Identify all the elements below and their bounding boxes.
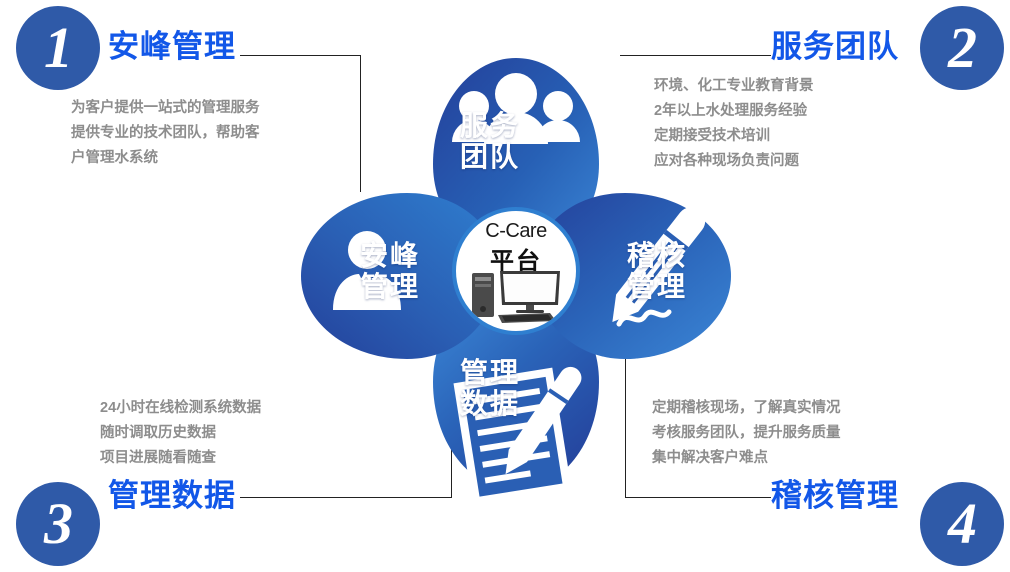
desktop-computer-icon [470,269,564,325]
section-heading-anfeng-management: 安峰管理 [108,21,236,66]
infographic-canvas: 1 2 3 4 安峰管理 服务团队 管理数据 稽核管理 为客户提供一站式的管理服… [0,0,1010,572]
section-body-anfeng-management: 为客户提供一站式的管理服务 提供专业的技术团队，帮助客 户管理水系统 [71,96,260,171]
section-heading-service-team: 服务团队 [771,21,899,66]
number-badge-3: 3 [16,482,100,566]
number-badge-1: 1 [16,6,100,90]
body-line: 随时调取历史数据 [100,421,261,446]
body-line: 为客户提供一站式的管理服务 [71,96,260,121]
section-heading-audit-management: 稽核管理 [771,470,899,515]
body-line: 项目进展随看随查 [100,446,261,471]
body-line: 提供专业的技术团队，帮助客 [71,121,260,146]
petal-label-anfeng-management: 安峰 管理 [340,240,440,302]
petal-label-audit-management: 稽核 管理 [607,240,707,302]
petal-label-service-team: 服务 团队 [435,110,545,172]
hub-title: C-Care [456,220,576,243]
section-heading-management-data: 管理数据 [108,470,236,515]
flower-diagram: 服务 团队 安峰 管理 稽核 管理 管理 数据 C-Care 平台 [255,12,785,532]
section-body-management-data: 24小时在线检测系统数据 随时调取历史数据 项目进展随看随查 [100,396,261,471]
body-line: 24小时在线检测系统数据 [100,396,261,421]
number-badge-2: 2 [920,6,1004,90]
center-hub[interactable]: C-Care 平台 [452,207,580,335]
number-badge-4: 4 [920,482,1004,566]
body-line: 户管理水系统 [71,146,260,171]
petal-label-management-data: 管理 数据 [435,357,545,419]
